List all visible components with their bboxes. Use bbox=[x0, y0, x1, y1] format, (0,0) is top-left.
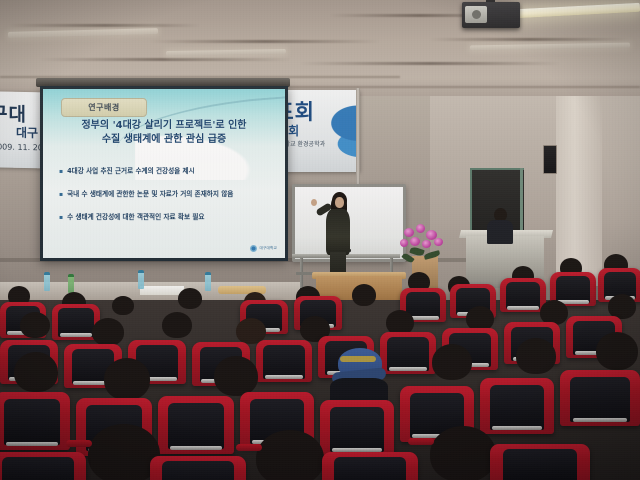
armrest bbox=[408, 438, 434, 445]
water-bottle-2 bbox=[68, 274, 74, 293]
audience-head bbox=[112, 296, 134, 315]
audience-head bbox=[162, 312, 192, 338]
slide-title-line-2: 수질 생태계에 관한 관심 급증 bbox=[43, 133, 285, 147]
seat[interactable] bbox=[158, 396, 234, 454]
ceiling-light-strip-right bbox=[516, 3, 640, 18]
seat[interactable] bbox=[256, 340, 312, 382]
presentation-slide: 연구배경 정부의 '4대강 살리기 프로젝트'로 인한 수질 생태계에 관한 관… bbox=[43, 89, 285, 258]
audience-head bbox=[516, 338, 556, 374]
audience-head bbox=[20, 312, 50, 338]
wall-pillar bbox=[556, 96, 602, 286]
presenter-torso bbox=[326, 209, 350, 255]
seat[interactable] bbox=[0, 392, 70, 450]
presenter-hand bbox=[311, 199, 317, 206]
banner-swoosh-graphic bbox=[310, 98, 360, 172]
audience-head bbox=[432, 344, 472, 380]
podium-person-torso bbox=[487, 220, 513, 244]
projection-screen: 연구배경 정부의 '4대강 살리기 프로젝트'로 인한 수질 생태계에 관한 관… bbox=[40, 86, 288, 261]
audience-head bbox=[14, 352, 58, 392]
seat[interactable] bbox=[500, 278, 546, 312]
water-bottle-3 bbox=[205, 272, 211, 291]
audience-head bbox=[214, 356, 258, 396]
slide-bullet-1: 4대강 사업 추진 근거로 수계의 건강성을 제시 bbox=[59, 165, 275, 175]
seat[interactable] bbox=[322, 452, 418, 480]
audience-head-foreground bbox=[256, 430, 324, 480]
audience-head-foreground bbox=[430, 426, 496, 480]
slide-bullet-list: 4대강 사업 추진 근거로 수계의 건강성을 제시 국내 수 생태계에 관한한 … bbox=[59, 165, 275, 234]
armrest bbox=[236, 444, 262, 451]
seat[interactable] bbox=[380, 332, 436, 374]
presenter-face bbox=[335, 197, 344, 208]
paper-stack bbox=[140, 286, 184, 295]
audience-head bbox=[104, 358, 150, 400]
projector-lens bbox=[465, 6, 487, 23]
cap-accent-stripe bbox=[340, 356, 376, 362]
seat[interactable] bbox=[490, 444, 590, 480]
ceiling-light-strip-left bbox=[8, 28, 158, 38]
water-bottle-1 bbox=[44, 272, 50, 291]
banner-left-headline: 구대 bbox=[0, 99, 27, 127]
seat[interactable] bbox=[0, 452, 86, 480]
projector bbox=[462, 2, 520, 28]
ceiling-light-strip-mid bbox=[166, 49, 286, 56]
seat[interactable] bbox=[480, 378, 554, 434]
slide-section-tag: 연구배경 bbox=[61, 98, 147, 117]
seat[interactable] bbox=[150, 456, 246, 480]
seat[interactable] bbox=[320, 400, 394, 456]
audience-head bbox=[178, 288, 202, 309]
water-bottle-4 bbox=[138, 270, 144, 289]
slide-title-line-1: 정부의 '4대강 살리기 프로젝트'로 인한 bbox=[43, 119, 285, 133]
banner-left-subline: 대구 bbox=[16, 124, 38, 141]
audience-head bbox=[352, 284, 376, 306]
seat[interactable] bbox=[560, 370, 640, 426]
slide-bullet-2: 국내 수 생태계에 관한한 논문 및 자료가 거의 존재하지 않음 bbox=[59, 188, 275, 198]
slide-logo-mark bbox=[250, 245, 257, 252]
slide-title: 정부의 '4대강 살리기 프로젝트'로 인한 수질 생태계에 관한 관심 급증 bbox=[43, 119, 285, 147]
slide-bullet-3: 수 생태계 건강성에 대한 객관적인 자료 확보 필요 bbox=[59, 211, 275, 221]
slide-logo-text: 대구대학교 bbox=[259, 246, 277, 251]
ceiling-light-strip-far bbox=[470, 43, 630, 51]
flower-arrangement bbox=[396, 222, 454, 266]
wall-speaker bbox=[543, 145, 557, 174]
seminar-room-photo: 구대 대구 2009. 11. 20(금) 발표회 발표회 대구대학교 환경공학… bbox=[0, 0, 640, 480]
audience-head bbox=[596, 332, 638, 370]
slide-logo: 대구대학교 bbox=[250, 245, 277, 252]
armrest bbox=[66, 440, 92, 447]
audience-head bbox=[92, 318, 124, 346]
